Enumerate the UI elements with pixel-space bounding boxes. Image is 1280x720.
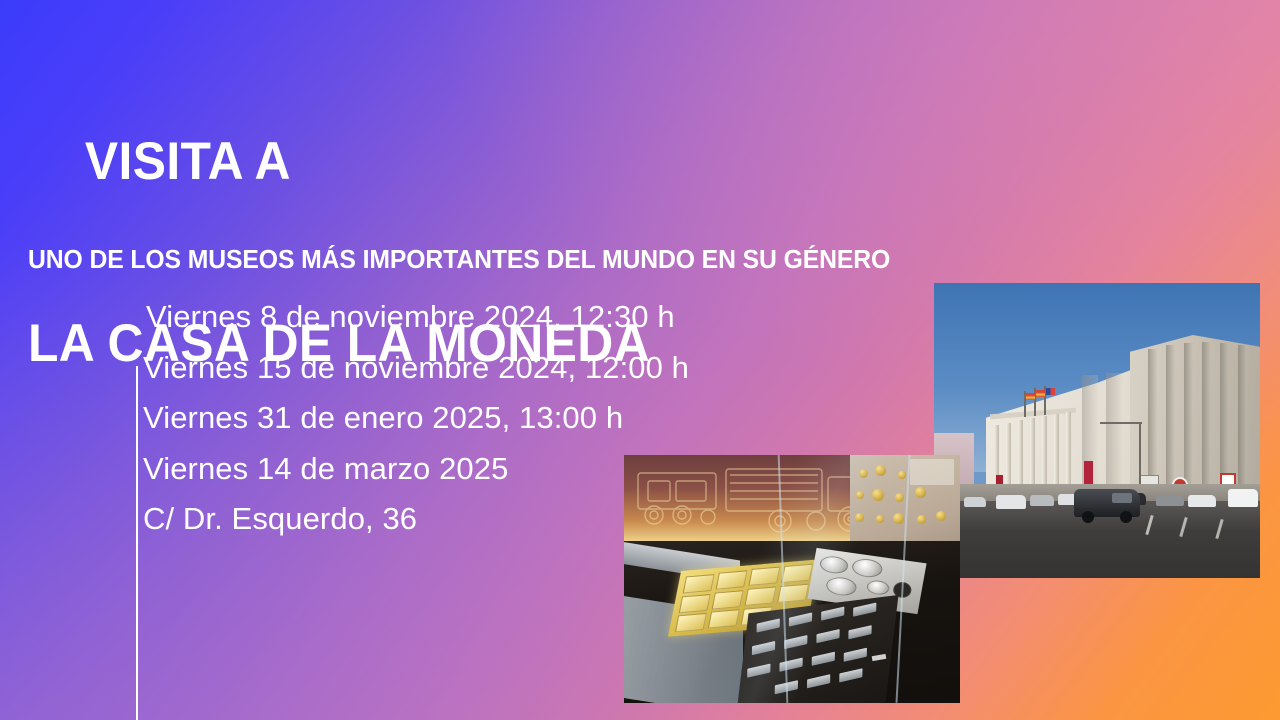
street-lamp (1139, 423, 1141, 491)
facade-rib (1166, 345, 1175, 499)
facade-rib (1202, 342, 1211, 499)
list-item: Viernes 8 de noviembre 2024, 12:30 h (143, 292, 689, 343)
mint-building-photo (934, 283, 1260, 578)
list-item: Viernes 15 de noviembre 2024, 12:00 h (143, 343, 689, 394)
flag-icon (1036, 390, 1045, 397)
list-item: C/ Dr. Esquerdo, 36 (143, 494, 689, 545)
glass-reflection (624, 455, 960, 703)
street-lamp-arm (1100, 422, 1142, 424)
car (1228, 489, 1258, 507)
car (1188, 495, 1216, 507)
headline-line-1: VISITA A (85, 132, 291, 191)
van-wheel (1120, 511, 1132, 523)
van-window (1112, 493, 1132, 503)
presentation-slide: VISITA A LA CASA DE LA MONEDA UNO DE LOS… (0, 0, 1280, 720)
subtitle: UNO DE LOS MUSEOS MÁS IMPORTANTES DEL MU… (28, 246, 890, 275)
column (1006, 423, 1011, 491)
van-wheel (1082, 511, 1094, 523)
car (1030, 495, 1054, 506)
facade-rib (1184, 343, 1193, 499)
list-item: Viernes 31 de enero 2025, 13:00 h (143, 393, 689, 444)
flag-icon (1046, 388, 1055, 395)
car (1156, 495, 1184, 506)
flag-icon (1026, 393, 1035, 400)
facade-rib (1238, 345, 1247, 499)
car (964, 497, 986, 507)
museum-interior-photo (624, 455, 960, 703)
schedule-list: Viernes 8 de noviembre 2024, 12:30 h Vie… (143, 292, 689, 545)
column (1066, 412, 1071, 486)
column (1030, 418, 1035, 489)
column (1018, 420, 1023, 490)
facade-panel (1106, 373, 1122, 493)
list-item: Viernes 14 de marzo 2025 (143, 444, 689, 495)
column (1054, 414, 1059, 487)
car (996, 495, 1026, 509)
column (1042, 416, 1047, 488)
